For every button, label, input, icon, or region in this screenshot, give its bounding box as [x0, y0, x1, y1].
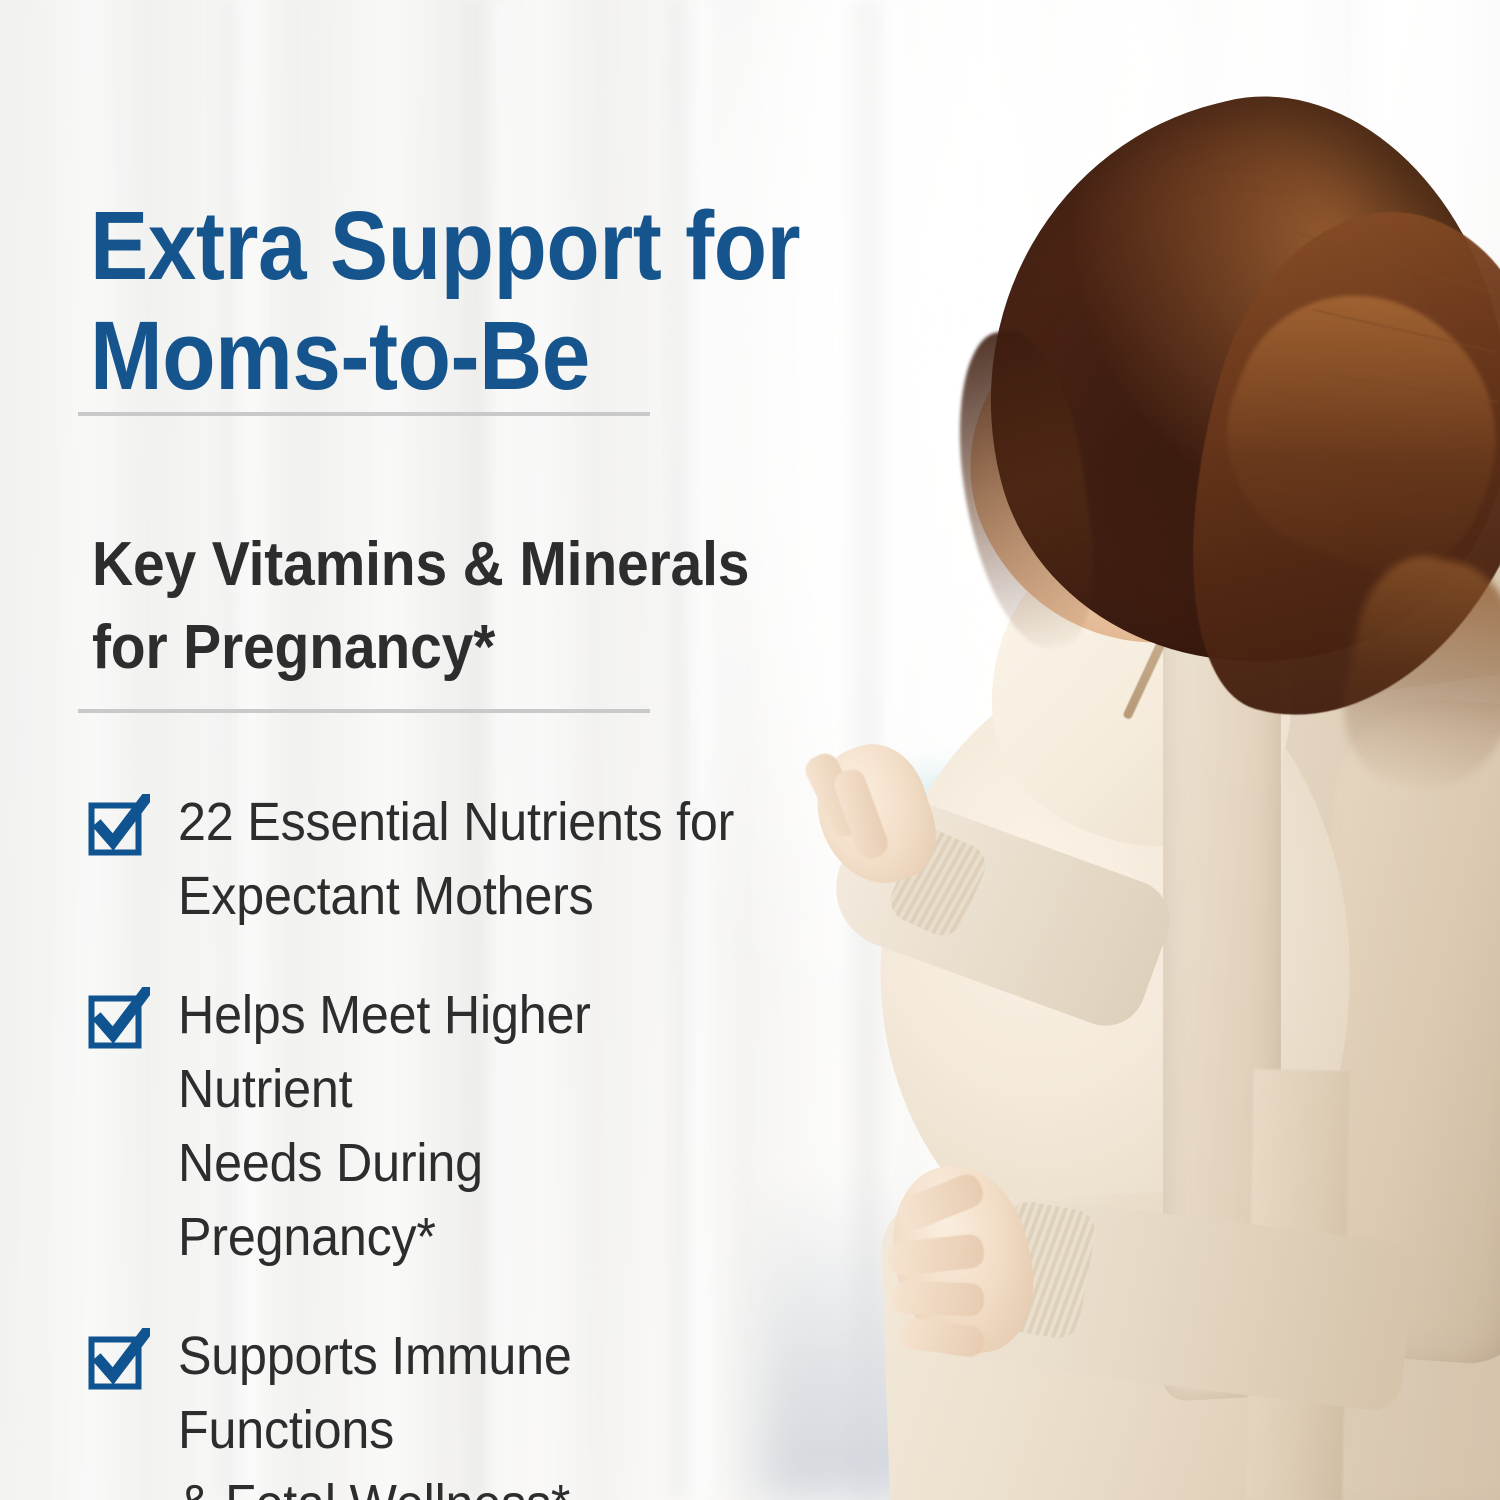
benefits-list: 22 Essential Nutrients for Expectant Mot…	[88, 786, 788, 1500]
list-item-label: Helps Meet Higher Nutrient Needs During …	[178, 979, 745, 1275]
headline-line-2: Moms-to-Be	[90, 301, 684, 411]
page-title: Extra Support for Moms-to-Be	[90, 191, 684, 410]
subheading: Key Vitamins & Minerals for Pregnancy*	[92, 524, 718, 689]
finger	[891, 1280, 984, 1316]
promo-image-root: Extra Support for Moms-to-Be Key Vitamin…	[0, 0, 1500, 1500]
checkbox-checked-icon	[88, 1328, 150, 1390]
list-item-label: Supports Immune Functions & Fetal Wellne…	[178, 1320, 745, 1500]
subheading-line-1: Key Vitamins & Minerals	[92, 524, 718, 606]
divider-bottom	[78, 709, 650, 713]
list-item: Supports Immune Functions & Fetal Wellne…	[88, 1320, 788, 1500]
checkbox-checked-icon	[88, 987, 150, 1049]
list-item: 22 Essential Nutrients for Expectant Mot…	[88, 786, 788, 934]
text-column: Extra Support for Moms-to-Be Key Vitamin…	[0, 0, 800, 1500]
headline-line-1: Extra Support for	[90, 191, 684, 301]
divider-top	[78, 412, 650, 416]
checkbox-checked-icon	[88, 794, 150, 856]
list-item-label: 22 Essential Nutrients for Expectant Mot…	[178, 786, 734, 934]
list-item: Helps Meet Higher Nutrient Needs During …	[88, 979, 788, 1275]
subheading-line-2: for Pregnancy*	[92, 607, 718, 689]
